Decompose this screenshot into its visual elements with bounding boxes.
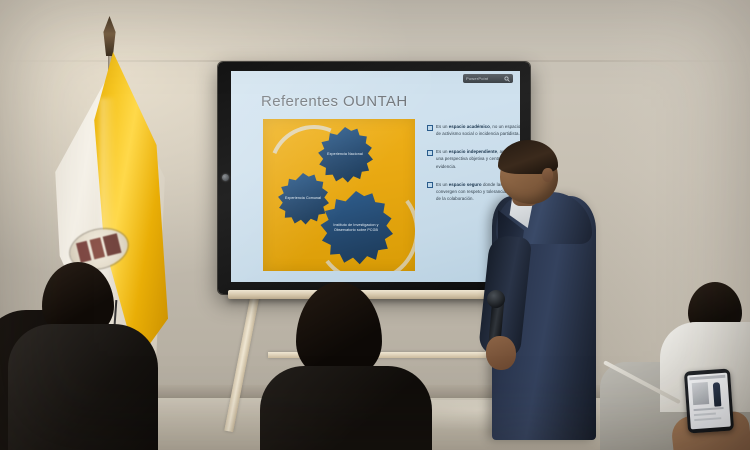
smartphone-recording[interactable] [684, 368, 734, 433]
search-icon[interactable] [504, 76, 510, 82]
bullet-lead: Es un [436, 182, 449, 187]
phone-figure-preview [713, 382, 722, 406]
bullet-strong: espacio académico [449, 124, 490, 129]
flag-emblem-mark [76, 233, 122, 263]
bullet-marker-icon [427, 150, 433, 156]
presenter-ear [542, 168, 553, 182]
slide-toolbar[interactable]: PowerPoint [463, 74, 513, 83]
audience-body [8, 324, 158, 450]
gear-2-label: Experiencia Comunal [281, 196, 325, 201]
bullet-lead: Es un [436, 124, 449, 129]
phone-screen[interactable] [687, 373, 731, 430]
audience-center [252, 282, 432, 450]
audience-front-left [14, 262, 144, 450]
bullet-marker-icon [427, 125, 433, 131]
bullet-text: Es un espacio académico, no un espacio d… [436, 123, 520, 137]
phone-text-line [694, 417, 721, 421]
phone-thumbnail [692, 382, 709, 405]
slide-title: Referentes OUNTAH [261, 93, 408, 110]
flag-finial-icon [100, 16, 119, 56]
toolbar-label: PowerPoint [466, 76, 488, 81]
audience-body [260, 366, 432, 450]
phone-status-bar [689, 375, 725, 381]
bullet-lead: Es un [436, 149, 449, 154]
gear-1-label: Experiencia Nacional [323, 152, 367, 157]
power-button-icon[interactable] [222, 174, 229, 181]
phone-text-line [694, 407, 724, 411]
presenter-hand [486, 336, 516, 370]
gear-diagram: Experiencia Nacional Experiencia Comunal… [263, 119, 415, 271]
audience-head [296, 282, 382, 378]
gear-3-label: Instituto de Investigacion y Observatori… [319, 223, 393, 233]
phone-text-line [694, 413, 716, 417]
presentation-photo-scene: PowerPoint Referentes OUNTAH Experiencia… [0, 0, 750, 450]
bullet-item: Es un espacio académico, no un espacio d… [427, 123, 520, 137]
bullet-marker-icon [427, 182, 433, 188]
